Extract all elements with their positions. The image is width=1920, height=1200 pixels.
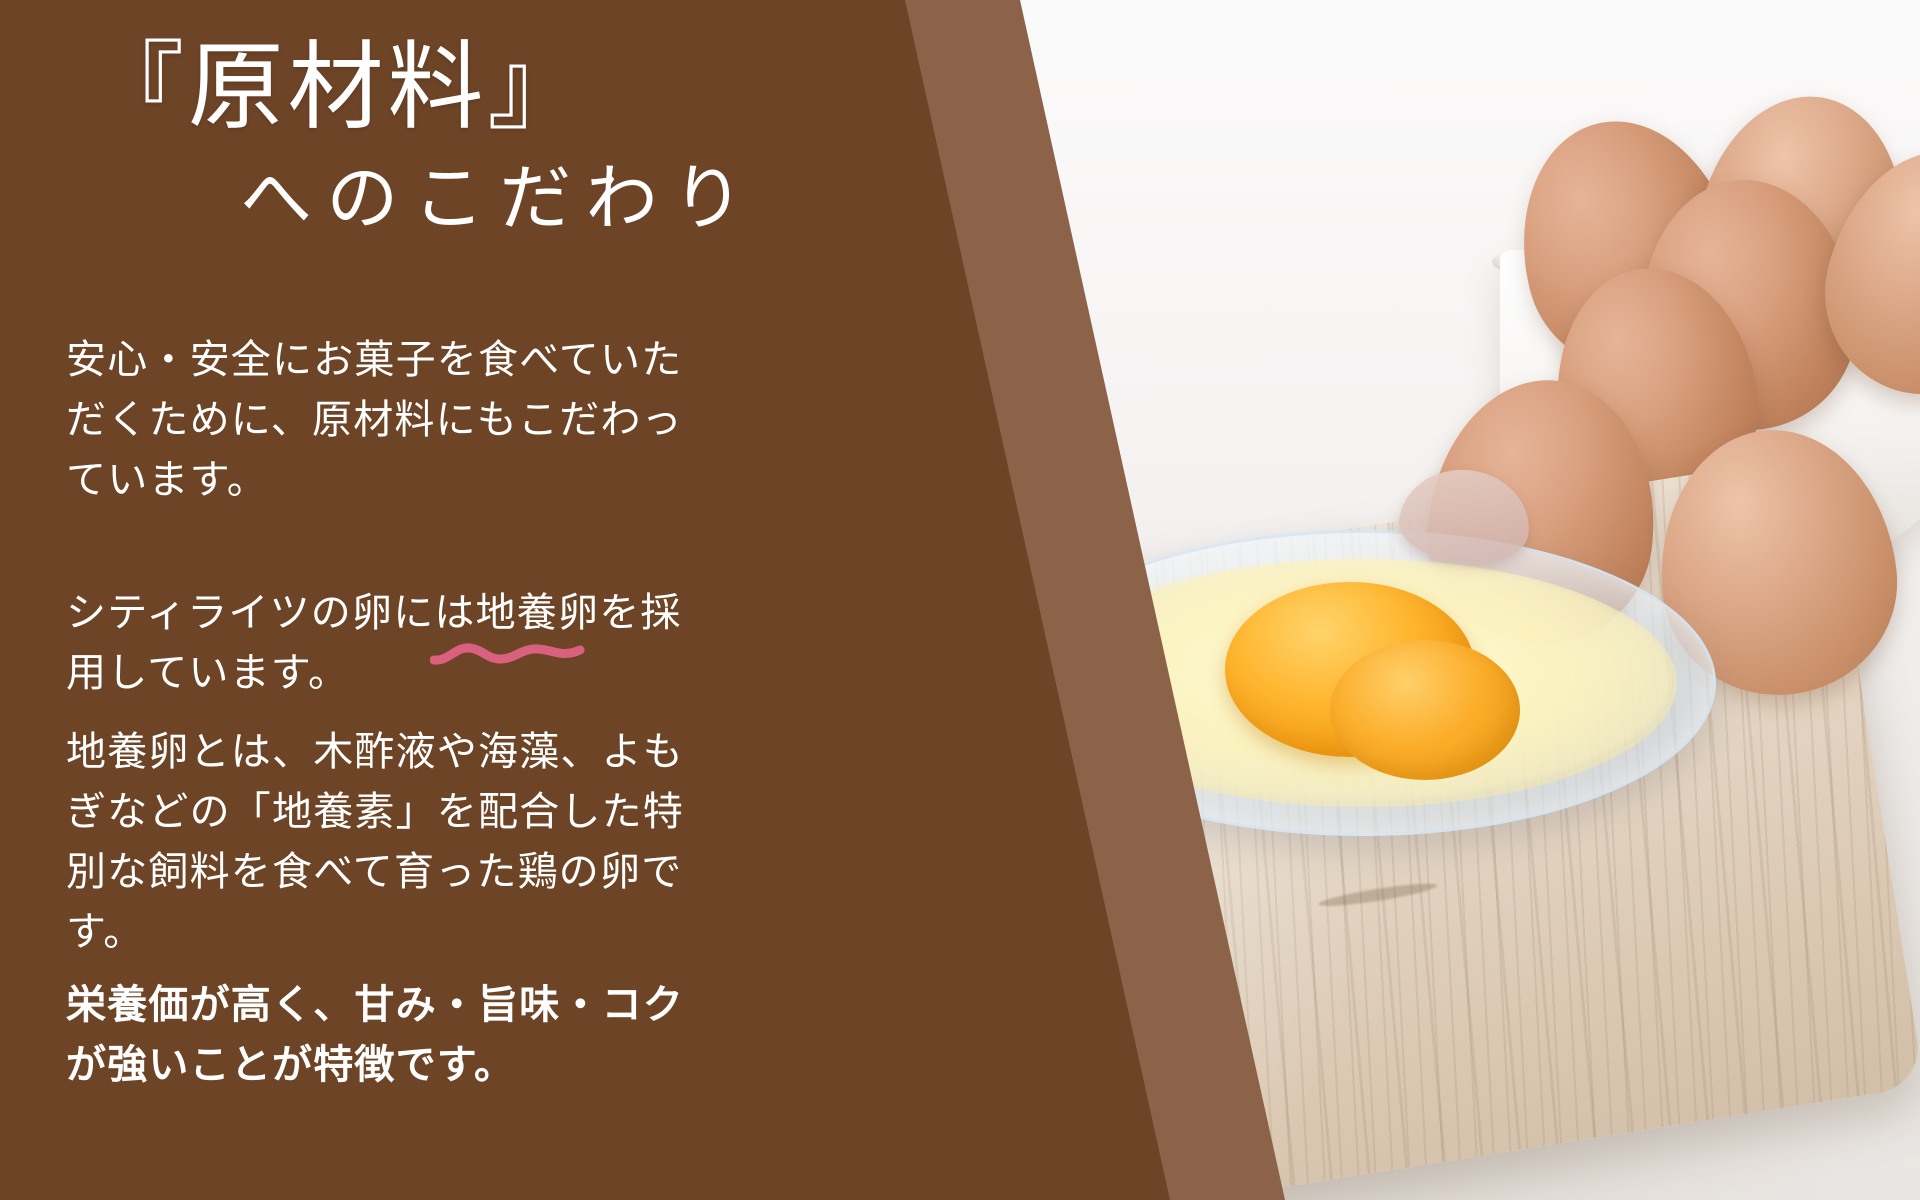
paragraph-line: 地養卵とは、木酢液や海藻、よも (66, 722, 886, 782)
wavy-underline-icon (430, 636, 590, 670)
page-subtitle: へのこだわり (240, 160, 758, 239)
paragraph-line: シティライツの卵には地養卵を採 (66, 583, 886, 643)
paragraph-line: す。 (66, 902, 886, 962)
paragraph-jiyouran-definition: 地養卵とは、木酢液や海藻、よも ぎなどの「地養素」を配合した特 別な飼料を食べて… (66, 722, 886, 962)
text-column: 『原材料』 へのこだわり 安心・安全にお菓子を食べていた だくために、原材料にも… (0, 0, 1020, 1200)
slide-canvas: 『原材料』 へのこだわり 安心・安全にお菓子を食べていた だくために、原材料にも… (0, 0, 1920, 1200)
paragraph-line: 安心・安全にお菓子を食べていた (66, 330, 886, 390)
paragraph-line: ています。 (66, 450, 886, 510)
paragraph-line: 別な飼料を食べて育った鶏の卵で (66, 842, 886, 902)
paragraph-line: ぎなどの「地養素」を配合した特 (66, 782, 886, 842)
paragraph-line: が強いことが特徴です。 (66, 1035, 886, 1095)
paragraph-line: 栄養価が高く、甘み・旨味・コク (66, 975, 886, 1035)
page-title: 『原材料』 (88, 36, 587, 140)
paragraph-line: だくために、原材料にもこだわっ (66, 390, 886, 450)
paragraph-intro: 安心・安全にお菓子を食べていた だくために、原材料にもこだわっ ています。 (66, 330, 886, 510)
paragraph-jiyouran-benefit: 栄養価が高く、甘み・旨味・コク が強いことが特徴です。 (66, 975, 886, 1095)
egg-yolk-secondary (1330, 640, 1520, 780)
